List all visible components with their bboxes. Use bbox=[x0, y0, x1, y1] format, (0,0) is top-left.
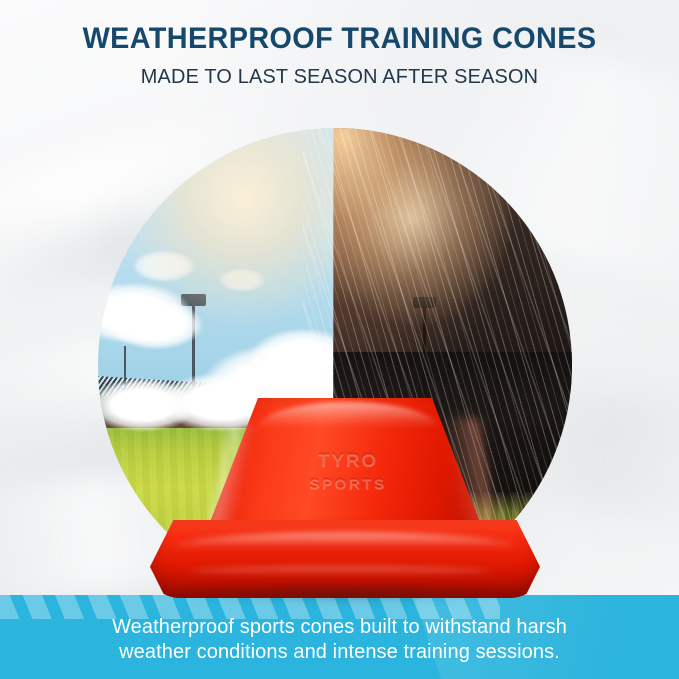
caption-line-2: weather conditions and intense training … bbox=[0, 640, 679, 665]
page-subtitle: MADE TO LAST SEASON AFTER SEASON bbox=[10, 65, 669, 89]
brand-name-line2: SPORTS bbox=[309, 475, 387, 492]
page-title: WEATHERPROOF TRAINING CONES bbox=[14, 22, 666, 56]
cone-drop-shadow bbox=[174, 584, 518, 602]
header-text-block: WEATHERPROOF TRAINING CONES MADE TO LAST… bbox=[0, 22, 679, 89]
cone-highlight bbox=[190, 566, 490, 576]
caption-line-1: Weatherproof sports cones built to withs… bbox=[0, 615, 679, 640]
cone-brand-emboss: TYRO SPORTS bbox=[255, 442, 441, 502]
caption-text: Weatherproof sports cones built to withs… bbox=[0, 615, 679, 665]
bottom-caption-banner: Weatherproof sports cones built to withs… bbox=[0, 595, 679, 679]
brand-name-line1: TYRO bbox=[318, 451, 379, 472]
training-cone-product: TYRO SPORTS bbox=[150, 398, 540, 598]
sun-glow bbox=[313, 128, 513, 328]
marketing-image-canvas: WEATHERPROOF TRAINING CONES MADE TO LAST… bbox=[0, 0, 679, 679]
